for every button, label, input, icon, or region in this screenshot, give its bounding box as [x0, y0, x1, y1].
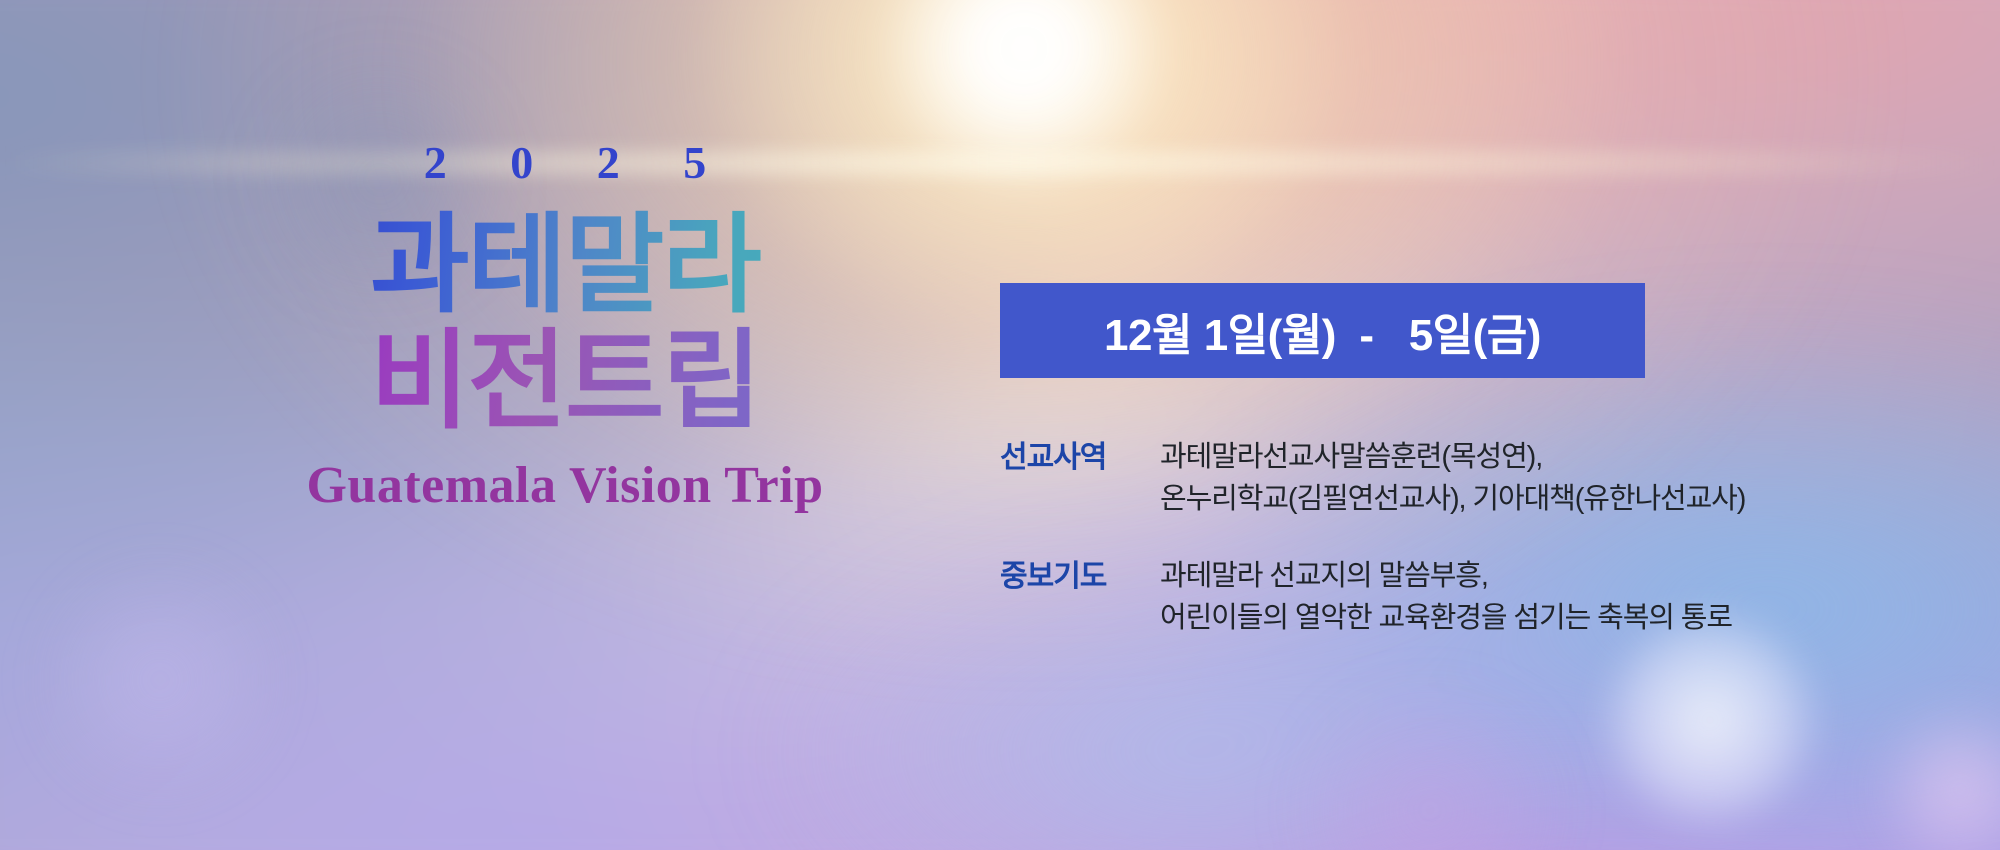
title-block: 2 0 2 5 과테말라 비전트립 Guatemala Vision Trip: [255, 140, 875, 514]
date-range-text: 12월 1일(월) - 5일(금): [1104, 299, 1541, 363]
promo-banner: 2 0 2 5 과테말라 비전트립 Guatemala Vision Trip …: [0, 0, 2000, 850]
date-banner: 12월 1일(월) - 5일(금): [1000, 283, 1645, 378]
year-label: 2 0 2 5: [255, 140, 875, 186]
details-block: 12월 1일(월) - 5일(금) 선교사역 과테말라선교사말씀훈련(목성연),…: [1000, 283, 1745, 673]
info-line: 온누리학교(김필연선교사), 기아대책(유한나선교사): [1160, 478, 1745, 520]
page-title-line-1: 과테말라: [255, 208, 875, 322]
content-layer: 2 0 2 5 과테말라 비전트립 Guatemala Vision Trip …: [0, 0, 2000, 850]
info-lines-prayer: 과테말라 선교지의 말씀부흥, 어린이들의 열악한 교육환경을 섬기는 축복의 …: [1160, 555, 1732, 640]
info-line: 과테말라 선교지의 말씀부흥,: [1160, 555, 1732, 597]
page-title-line-2: 비전트립: [255, 324, 875, 438]
info-row-prayer: 중보기도 과테말라 선교지의 말씀부흥, 어린이들의 열악한 교육환경을 섬기는…: [1000, 555, 1745, 640]
info-lines-mission: 과테말라선교사말씀훈련(목성연), 온누리학교(김필연선교사), 기아대책(유한…: [1160, 436, 1745, 521]
info-label-mission: 선교사역: [1000, 436, 1160, 480]
info-row-mission: 선교사역 과테말라선교사말씀훈련(목성연), 온누리학교(김필연선교사), 기아…: [1000, 436, 1745, 521]
info-line: 어린이들의 열악한 교육환경을 섬기는 축복의 통로: [1160, 597, 1732, 639]
info-list: 선교사역 과테말라선교사말씀훈련(목성연), 온누리학교(김필연선교사), 기아…: [1000, 436, 1745, 639]
info-line: 과테말라선교사말씀훈련(목성연),: [1160, 436, 1745, 478]
info-label-prayer: 중보기도: [1000, 555, 1160, 599]
subtitle-english: Guatemala Vision Trip: [255, 457, 875, 514]
